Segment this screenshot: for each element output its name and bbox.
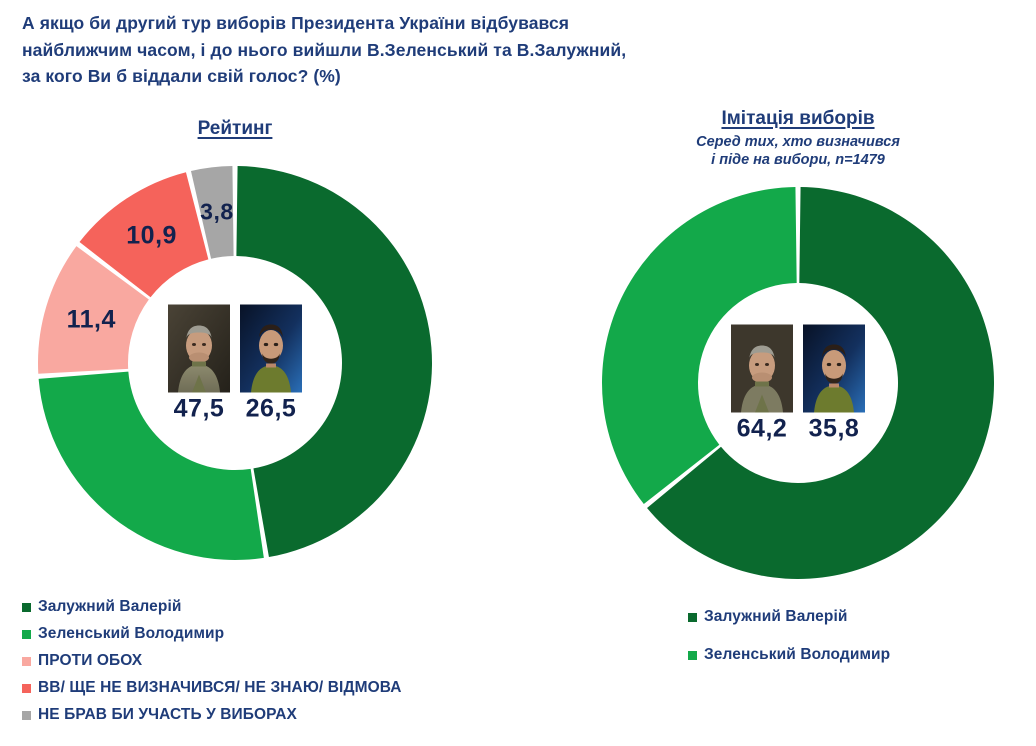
value-zelenskyy-simulation: 35,8 [809, 417, 860, 442]
legend-label: Залужний Валерій [38, 598, 181, 616]
donut-center-simulation: 64,2 [731, 325, 865, 442]
legend-label: Зеленський Володимир [704, 646, 890, 664]
legend-item[interactable]: Залужний Валерій [688, 608, 890, 626]
candidate-zelenskyy: 35,8 [803, 325, 865, 442]
legend-item[interactable]: Зеленський Володимир [688, 646, 890, 664]
candidate-photos: 64,2 [731, 325, 865, 442]
legend-swatch-icon [22, 684, 31, 693]
subtitle-line-1: Серед тих, хто визначився [560, 133, 1036, 151]
candidate-photos: 47,5 [168, 305, 302, 422]
legend-swatch-icon [22, 603, 31, 612]
legend-swatch-icon [22, 657, 31, 666]
chart-subtitle-simulation: Серед тих, хто визначився і піде на вибо… [560, 133, 1036, 169]
donut-chart-rating: 47,5 [30, 158, 440, 568]
chart-panel-simulation: Імітація виборів Серед тих, хто визначив… [560, 108, 1036, 583]
slice-label-nevyznachenni: 10,9 [126, 221, 177, 250]
value-zelenskyy-rating: 26,5 [246, 397, 297, 422]
legend-label: ВВ/ ЩЕ НЕ ВИЗНАЧИВСЯ/ НЕ ЗНАЮ/ ВІДМОВА [38, 679, 402, 697]
zaluzhnyi-portrait [731, 325, 793, 413]
legend-item[interactable]: Зеленський Володимир [22, 625, 402, 643]
donut-chart-simulation: 64,2 [598, 183, 998, 583]
legend-swatch-icon [688, 613, 697, 622]
legend-swatch-icon [688, 651, 697, 660]
chart-title-rating: Рейтинг [0, 118, 470, 140]
legend-label: Зеленський Володимир [38, 625, 224, 643]
survey-question: А якщо би другий тур виборів Президента … [22, 10, 782, 90]
question-line-3: за кого Ви б віддали свій голос? (%) [22, 63, 782, 90]
zelenskyy-portrait [803, 325, 865, 413]
legend-simulation: Залужний ВалерійЗеленський Володимир [688, 608, 890, 684]
zaluzhnyi-portrait [168, 305, 230, 393]
legend-item[interactable]: Залужний Валерій [22, 598, 402, 616]
question-line-1: А якщо би другий тур виборів Президента … [22, 10, 782, 37]
zelenskyy-portrait [240, 305, 302, 393]
candidate-zelenskyy: 26,5 [240, 305, 302, 422]
question-line-2: найближчим часом, і до нього вийшли В.Зе… [22, 37, 782, 64]
legend-swatch-icon [22, 711, 31, 720]
legend-label: ПРОТИ ОБОХ [38, 652, 142, 670]
legend-item[interactable]: ВВ/ ЩЕ НЕ ВИЗНАЧИВСЯ/ НЕ ЗНАЮ/ ВІДМОВА [22, 679, 402, 697]
subtitle-line-2: і піде на вибори, n=1479 [560, 151, 1036, 169]
legend-label: Залужний Валерій [704, 608, 847, 626]
donut-center-rating: 47,5 [168, 305, 302, 422]
chart-panel-rating: Рейтинг [0, 118, 470, 568]
value-zaluzhnyi-rating: 47,5 [174, 397, 225, 422]
legend-label: НЕ БРАВ БИ УЧАСТЬ У ВИБОРАХ [38, 706, 297, 724]
legend-swatch-icon [22, 630, 31, 639]
legend-item[interactable]: НЕ БРАВ БИ УЧАСТЬ У ВИБОРАХ [22, 706, 402, 724]
value-zaluzhnyi-simulation: 64,2 [737, 417, 788, 442]
chart-title-simulation: Імітація виборів [560, 108, 1036, 130]
slice-label-proty-oboh: 11,4 [67, 306, 116, 335]
slice-label-ne-bral-by-uchast: 3,8 [200, 199, 233, 226]
candidate-zaluzhnyi: 47,5 [168, 305, 230, 422]
legend-rating: Залужний ВалерійЗеленський ВолодимирПРОТ… [22, 598, 402, 733]
legend-item[interactable]: ПРОТИ ОБОХ [22, 652, 402, 670]
candidate-zaluzhnyi: 64,2 [731, 325, 793, 442]
